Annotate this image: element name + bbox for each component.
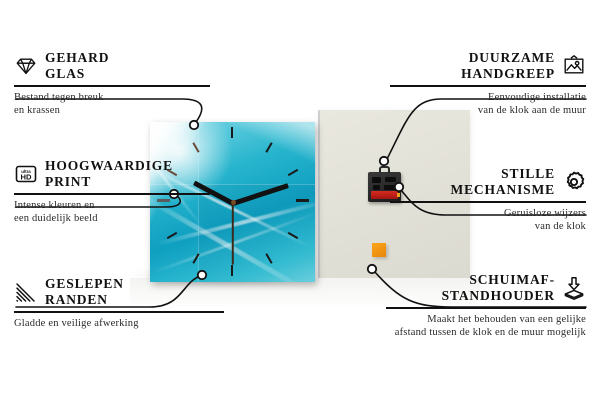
feature-header: SCHUIMAF- STANDHOUDER	[386, 272, 586, 304]
orange-foam-spacer-pad	[372, 243, 386, 257]
mechanism-hanger-hook	[379, 166, 390, 173]
feature-gehard-glas: GEHARD GLAS Bestand tegen breuk en krass…	[14, 50, 210, 117]
feature-divider	[14, 193, 210, 195]
clock-tick-1	[265, 142, 272, 153]
feature-divider	[14, 311, 224, 313]
feature-divider	[390, 85, 586, 87]
mechanism-detail	[372, 177, 381, 183]
feature-title: HOOGWAARDIGE PRINT	[45, 158, 173, 190]
clock-tick-2	[288, 169, 299, 176]
feature-schuimafstandhouder: SCHUIMAF- STANDHOUDER Maakt het behouden…	[386, 272, 586, 339]
feature-title: SCHUIMAF- STANDHOUDER	[442, 272, 555, 304]
feature-description: Geruisloze wijzers van de klok	[390, 207, 586, 233]
feature-description: Intense kleuren en een duidelijk beeld	[14, 199, 210, 225]
feature-header: GEHARD GLAS	[14, 50, 210, 82]
feature-divider	[386, 307, 586, 309]
clock-center-hub	[231, 200, 236, 205]
mechanism-detail	[373, 185, 380, 190]
press-down-pad-icon	[562, 276, 586, 300]
picture-frame-hanger-icon	[562, 54, 586, 78]
feature-header: DUURZAME HANDGREEP	[390, 50, 586, 82]
feature-hoogwaardige-print: ultra HD HOOGWAARDIGE PRINT Intense kleu…	[14, 158, 210, 225]
feature-title: GEHARD GLAS	[45, 50, 109, 82]
feature-description: Eenvoudige installatie van de klok aan d…	[390, 91, 586, 117]
feature-header: ultra HD HOOGWAARDIGE PRINT	[14, 158, 210, 190]
feature-header: GESLEPEN RANDEN	[14, 276, 224, 308]
feature-title: GESLEPEN RANDEN	[45, 276, 124, 308]
ultra-hd-icon: ultra HD	[14, 162, 38, 186]
clock-tick-6	[231, 265, 233, 276]
feature-divider	[390, 201, 586, 203]
diamond-icon	[14, 54, 38, 78]
infographic-canvas: GEHARD GLAS Bestand tegen breuk en krass…	[0, 0, 600, 400]
feature-description: Maakt het behouden van een gelijke afsta…	[386, 313, 586, 339]
feature-divider	[14, 85, 210, 87]
feature-geslepen-randen: GESLEPEN RANDEN Gladde en veilige afwerk…	[14, 276, 224, 330]
feature-header: STILLE MECHANISME	[390, 166, 586, 198]
feature-duurzame-handgreep: DUURZAME HANDGREEP Eenvoudige installati…	[390, 50, 586, 117]
beveled-edge-icon	[14, 280, 38, 304]
feature-description: Gladde en veilige afwerking	[14, 317, 224, 330]
svg-text:HD: HD	[21, 173, 32, 182]
clock-second-hand	[232, 203, 234, 265]
gear-icon	[562, 170, 586, 194]
clock-tick-3	[296, 199, 309, 202]
clock-tick-12	[231, 127, 233, 138]
feature-title: STILLE MECHANISME	[450, 166, 555, 198]
feature-stille-mechanisme: STILLE MECHANISME Geruisloze wijzers van…	[390, 166, 586, 233]
feature-description: Bestand tegen breuk en krassen	[14, 91, 210, 117]
feature-title: DUURZAME HANDGREEP	[461, 50, 555, 82]
